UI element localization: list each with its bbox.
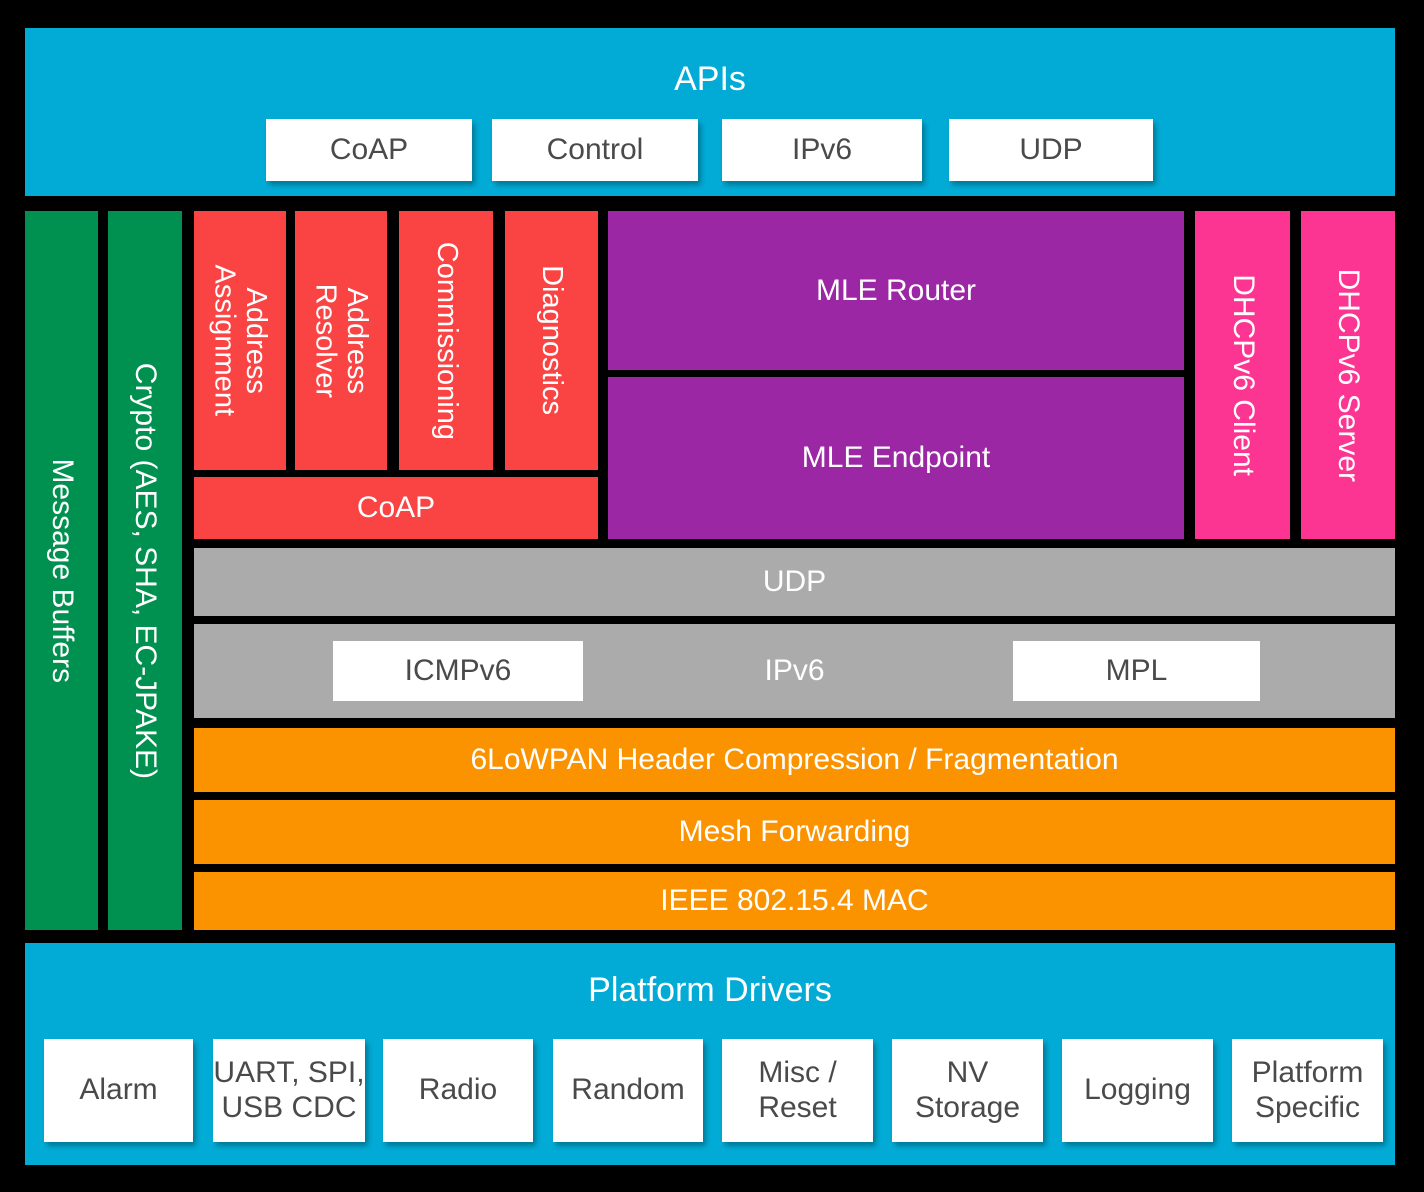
network-udp-row: UDP: [194, 548, 1395, 616]
support-column-message-buffers: Message Buffers: [25, 211, 98, 930]
support-column-crypto: Crypto (AES, SHA, EC-JPAKE): [108, 211, 182, 930]
platform-chip-misc-reset[interactable]: Misc / Reset: [722, 1039, 873, 1142]
architecture-diagram: APIs CoAP Control IPv6 UDP Message Buffe…: [0, 0, 1424, 1192]
platform-chip-radio[interactable]: Radio: [383, 1039, 533, 1142]
platform-chip-logging[interactable]: Logging: [1062, 1039, 1213, 1142]
network-chip-icmpv6[interactable]: ICMPv6: [333, 641, 583, 701]
mle-endpoint: MLE Endpoint: [608, 377, 1184, 539]
api-chip-udp[interactable]: UDP: [949, 119, 1153, 181]
link-mesh-forwarding: Mesh Forwarding: [194, 800, 1395, 864]
service-address-assignment: Address Assignment: [194, 211, 286, 470]
service-address-resolver-label: Address Resolver: [310, 283, 373, 397]
link-6lowpan: 6LoWPAN Header Compression / Fragmentati…: [194, 728, 1395, 792]
link-ieee-802154-mac: IEEE 802.15.4 MAC: [194, 872, 1395, 930]
dhcpv6-server: DHCPv6 Server: [1301, 211, 1395, 539]
platform-chip-nv-storage[interactable]: NV Storage: [892, 1039, 1043, 1142]
mle-router: MLE Router: [608, 211, 1184, 370]
api-chip-control[interactable]: Control: [492, 119, 698, 181]
platform-chip-uart-spi-usb-cdc[interactable]: UART, SPI, USB CDC: [213, 1039, 365, 1142]
api-layer-panel: [25, 28, 1395, 196]
dhcpv6-client: DHCPv6 Client: [1195, 211, 1290, 539]
dhcpv6-client-label: DHCPv6 Client: [1226, 274, 1258, 476]
api-chip-ipv6[interactable]: IPv6: [722, 119, 922, 181]
api-chip-coap[interactable]: CoAP: [266, 119, 472, 181]
platform-chip-platform-specific[interactable]: Platform Specific: [1232, 1039, 1383, 1142]
support-column-crypto-label: Crypto (AES, SHA, EC-JPAKE): [129, 362, 161, 778]
service-address-resolver: Address Resolver: [295, 211, 387, 470]
platform-chip-alarm[interactable]: Alarm: [44, 1039, 193, 1142]
service-commissioning: Commissioning: [399, 211, 493, 470]
service-commissioning-label: Commissioning: [430, 241, 461, 439]
api-layer-title: APIs: [25, 60, 1395, 99]
dhcpv6-server-label: DHCPv6 Server: [1332, 268, 1364, 481]
network-chip-mpl[interactable]: MPL: [1013, 641, 1260, 701]
support-column-message-buffers-label: Message Buffers: [45, 458, 77, 683]
platform-layer-title: Platform Drivers: [25, 971, 1395, 1010]
service-diagnostics-label: Diagnostics: [536, 266, 567, 416]
service-coap-bar: CoAP: [194, 477, 598, 539]
service-address-assignment-label: Address Assignment: [209, 265, 272, 417]
platform-chip-random[interactable]: Random: [553, 1039, 703, 1142]
service-diagnostics: Diagnostics: [505, 211, 598, 470]
